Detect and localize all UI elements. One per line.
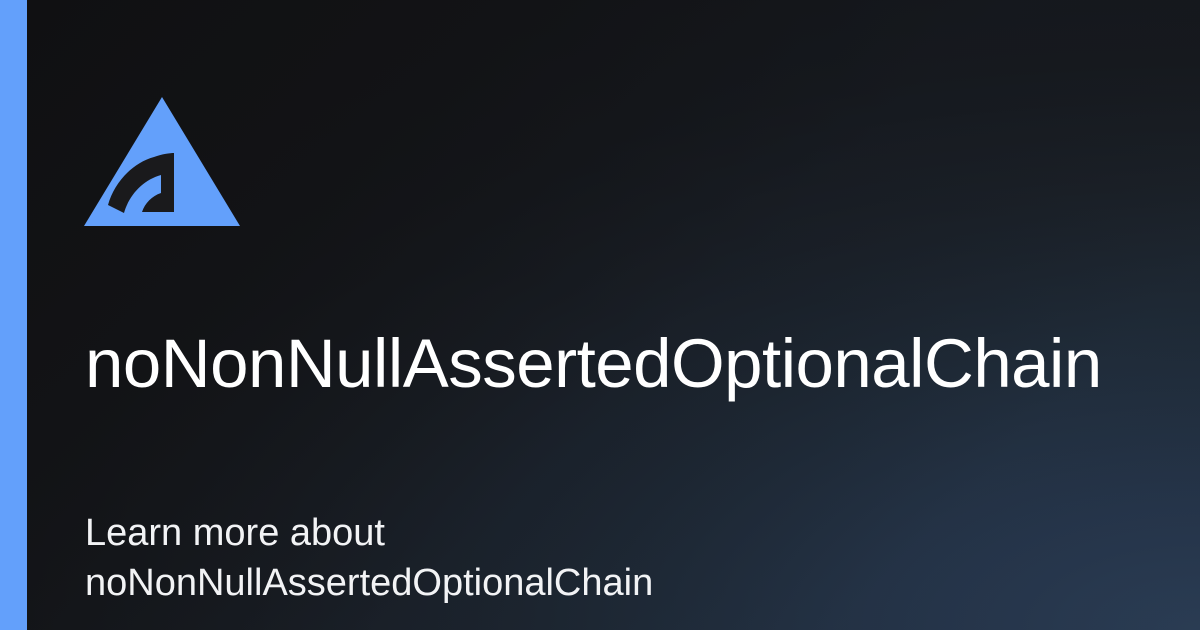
og-card: noNonNullAssertedOptionalChain Learn mor… bbox=[0, 0, 1200, 630]
biome-logo-icon bbox=[82, 95, 242, 229]
left-accent-bar bbox=[0, 0, 27, 630]
card-content: noNonNullAssertedOptionalChain Learn mor… bbox=[27, 0, 1200, 630]
page-subtitle: Learn more about noNonNullAssertedOption… bbox=[85, 508, 785, 608]
page-title: noNonNullAssertedOptionalChain bbox=[85, 322, 1105, 406]
